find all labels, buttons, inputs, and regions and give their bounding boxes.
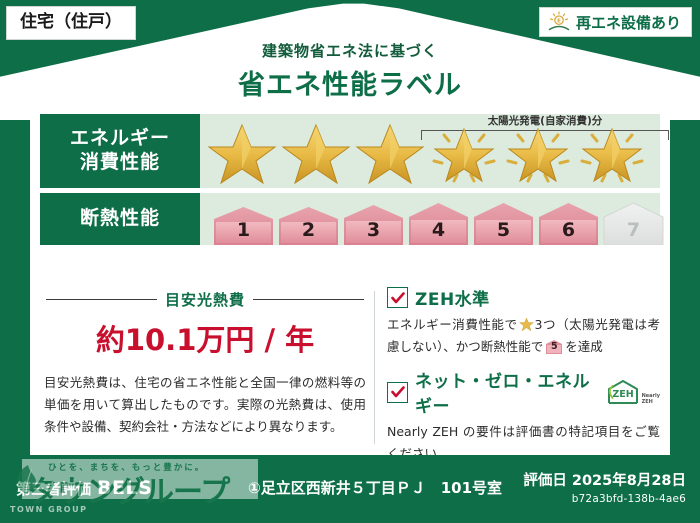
insulation-grade-number: 6 — [562, 219, 575, 245]
criterion-title: ZEH水準 — [415, 285, 490, 310]
insulation-grade-number: 4 — [432, 219, 445, 245]
insulation-grade-5: 5 — [472, 201, 535, 245]
check-icon — [387, 287, 408, 308]
column-divider — [374, 291, 375, 444]
footer-bar: 第三者評価 BELS ①足立区西新井５丁目ＰＪ 101号室 評価日 2025年8… — [0, 455, 700, 523]
criterion-net-zero-energy: ネット・ゼロ・エネルギー ZEH Nearly ZEH — [387, 367, 660, 464]
third-party-label: 第三者評価 — [16, 478, 91, 499]
insulation-performance-row: 断熱性能 1 — [40, 193, 660, 245]
utility-cost-note: 目安光熱費は、住宅の省エネ性能と全国一律の燃料等の単価を用いて算出したものです。… — [40, 372, 370, 438]
energy-performance-row: エネルギー 消費性能 太陽光発電(自家消費)分 — [40, 114, 660, 188]
criterion-body: エネルギー消費性能で3つ（太陽光発電は考慮しない）、かつ断熱性能で5を達成 — [387, 314, 660, 357]
label-body-panel: エネルギー 消費性能 太陽光発電(自家消費)分 — [30, 110, 670, 455]
criterion-header: ネット・ゼロ・エネルギー ZEH Nearly ZEH — [387, 367, 660, 417]
evaluation-id: b72a3bfd-138b-4ae6 — [523, 493, 686, 505]
insulation-performance-value: 1 2 — [200, 193, 665, 245]
criterion-body-post: を達成 — [565, 339, 603, 354]
renewable-equipment-badge: E 再エネ設備あり — [539, 7, 692, 37]
insulation-grade-6: 6 — [537, 201, 600, 245]
zeh-logo-sublabel: Nearly ZEH — [642, 394, 660, 405]
star-icon-pv — [428, 117, 500, 185]
insulation-grade-number: 7 — [627, 219, 640, 245]
star-icon — [354, 117, 426, 185]
criteria-column: ZEH水準 エネルギー消費性能で3つ（太陽光発電は考慮しない）、かつ断熱性能で5… — [387, 285, 660, 450]
criterion-body-pre: エネルギー消費性能で — [387, 317, 518, 332]
star-icon — [206, 117, 278, 185]
utility-cost-heading: 目安光熱費 — [40, 289, 370, 310]
energy-performance-value: 太陽光発電(自家消費)分 — [200, 114, 660, 188]
energy-label-line1: エネルギー — [70, 127, 170, 151]
rule-left — [46, 299, 157, 300]
insulation-grade-4: 4 — [407, 201, 470, 245]
utility-cost-amount: 約10.1万円 / 年 — [40, 317, 370, 359]
insulation-performance-label: 断熱性能 — [40, 193, 200, 245]
insulation-grade-2: 2 — [277, 201, 340, 245]
star-icon — [280, 117, 352, 185]
criterion-zeh-standard: ZEH水準 エネルギー消費性能で3つ（太陽光発電は考慮しない）、かつ断熱性能で5… — [387, 285, 660, 357]
insulation-grade-number: 3 — [367, 219, 380, 245]
insulation-grade-scale: 1 2 — [200, 193, 665, 245]
criterion-header: ZEH水準 — [387, 285, 660, 310]
check-icon — [387, 382, 408, 403]
criterion-title: ネット・ゼロ・エネルギー — [415, 367, 595, 417]
insulation-grade-3: 3 — [342, 201, 405, 245]
zeh-house-logo: ZEH Nearly ZEH — [606, 379, 660, 405]
performance-section: エネルギー 消費性能 太陽光発電(自家消費)分 — [40, 114, 660, 250]
energy-label-line2: 消費性能 — [80, 151, 160, 175]
renewable-badge-label: 再エネ設備あり — [576, 12, 681, 33]
zeh-logo-sub-line2: ZEH — [642, 399, 653, 405]
insulation-grade-number: 5 — [497, 219, 510, 245]
lower-section: 目安光熱費 約10.1万円 / 年 目安光熱費は、住宅の省エネ性能と全国一律の燃… — [40, 285, 660, 450]
insulation-grade-7: 7 — [602, 201, 665, 245]
star-rating — [200, 114, 660, 188]
footer-evaluation-brand: 第三者評価 BELS — [16, 477, 152, 499]
footer-evaluation-meta: 評価日 2025年8月28日 b72a3bfd-138b-4ae6 — [523, 469, 686, 505]
insulation-grade-number: 2 — [302, 219, 315, 245]
utility-cost-heading-text: 目安光熱費 — [165, 289, 245, 310]
insulation-grade-1: 1 — [212, 201, 275, 245]
rule-right — [253, 299, 364, 300]
bels-label: BELS — [97, 477, 152, 499]
utility-cost-column: 目安光熱費 約10.1万円 / 年 目安光熱費は、住宅の省エネ性能と全国一律の燃… — [40, 285, 370, 450]
svg-text:ZEH: ZEH — [612, 389, 633, 400]
energy-performance-label: 住宅（住戸） E 再エネ設備あり 建築物省エネ法に基づく 省エネ性能ラベル — [0, 0, 700, 523]
sun-icon: E — [547, 11, 571, 33]
star-icon — [519, 317, 534, 332]
star-icon-pv — [576, 117, 648, 185]
star-icon-pv — [502, 117, 574, 185]
evaluation-date: 評価日 2025年8月28日 — [523, 469, 686, 490]
insulation-grade-inline-icon: 5 — [545, 339, 563, 354]
insulation-grade-inline-value: 5 — [545, 339, 563, 354]
energy-performance-label: エネルギー 消費性能 — [40, 114, 200, 188]
insulation-grade-number: 1 — [237, 219, 250, 245]
property-address: ①足立区西新井５丁目ＰＪ 101号室 — [248, 477, 502, 498]
building-type-chip: 住宅（住戸） — [6, 6, 136, 40]
svg-text:E: E — [557, 19, 561, 25]
